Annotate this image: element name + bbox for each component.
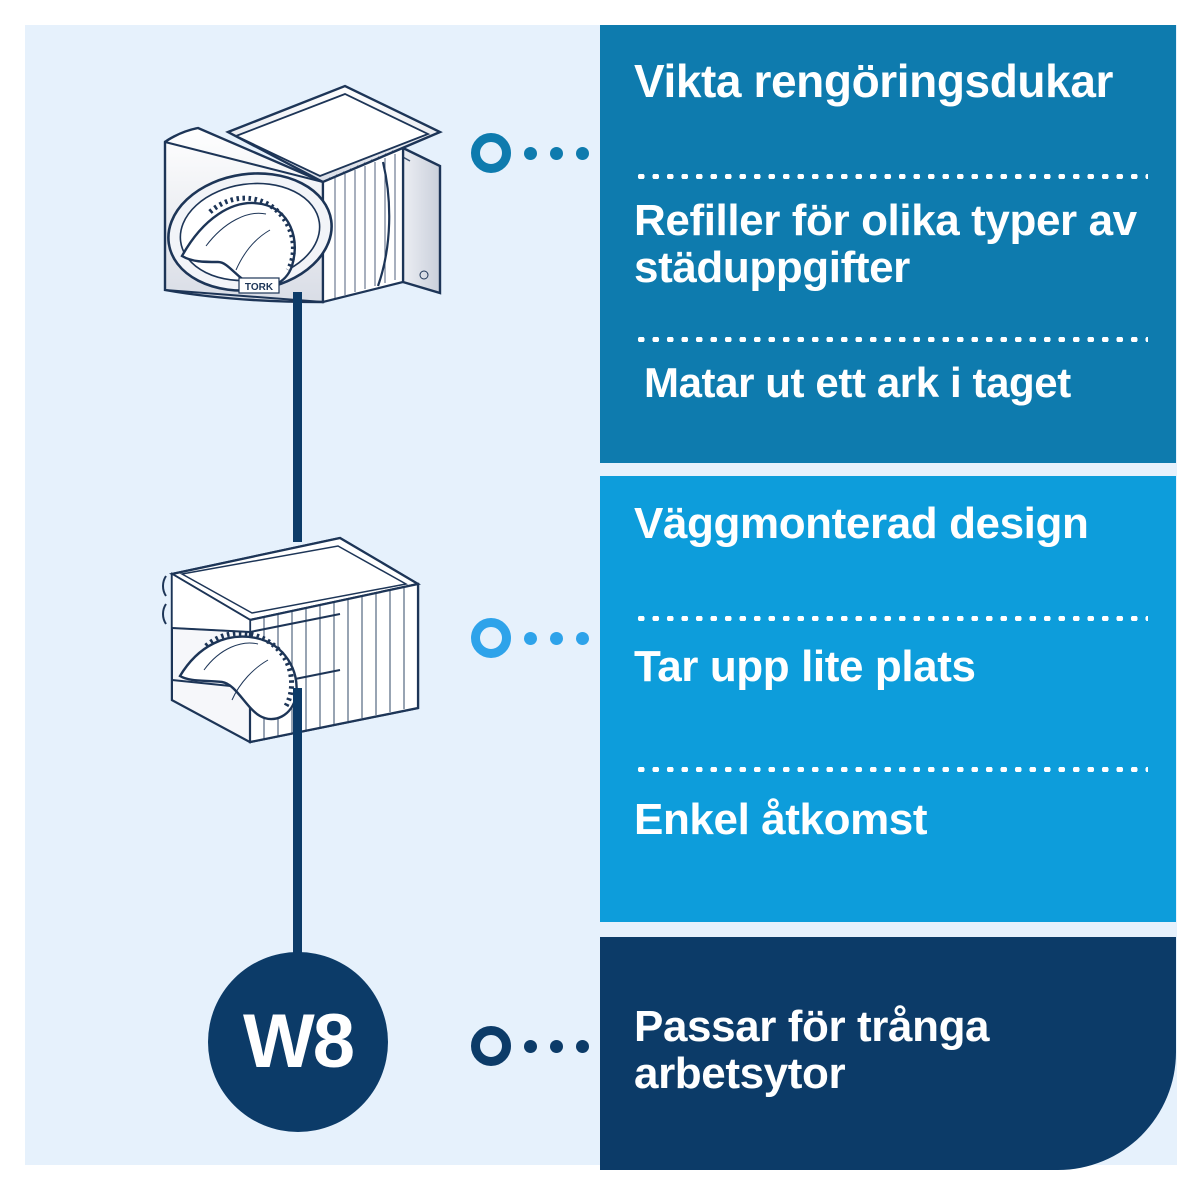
dots-icon bbox=[576, 632, 589, 645]
feature-text: Vikta rengöringsdukar bbox=[634, 57, 1152, 106]
feature-text: Enkel åtkomst bbox=[634, 796, 1152, 843]
feature-text: Passar för trånga arbetsytor bbox=[634, 1003, 1152, 1097]
tork-logo: TORK bbox=[239, 278, 279, 293]
feature-panel-3: Passar för trånga arbetsytor bbox=[600, 937, 1176, 1170]
ring-icon bbox=[471, 1026, 511, 1066]
connector-spine-lower bbox=[293, 688, 302, 988]
connector-spine-upper bbox=[293, 292, 302, 542]
dots-icon bbox=[576, 1040, 589, 1053]
dots-icon bbox=[524, 632, 537, 645]
connector-panel-3 bbox=[471, 1026, 615, 1066]
dots-icon bbox=[550, 147, 563, 160]
connector-panel-2 bbox=[471, 618, 615, 658]
product-code-badge: W8 bbox=[208, 952, 388, 1132]
ring-icon bbox=[471, 618, 511, 658]
dots-icon bbox=[576, 147, 589, 160]
infographic-root: TORK bbox=[0, 0, 1200, 1200]
dots-icon bbox=[550, 632, 563, 645]
dots-icon bbox=[550, 1040, 563, 1053]
feature-text: Refiller för olika typer av städuppgifte… bbox=[634, 197, 1152, 291]
feature-panel-2: Väggmonterad design Tar upp lite plats E… bbox=[600, 476, 1176, 922]
feature-text: Tar upp lite plats bbox=[634, 643, 1152, 690]
feature-panel-1: Vikta rengöringsdukar Refiller för olika… bbox=[600, 25, 1176, 463]
feature-text: Matar ut ett ark i taget bbox=[644, 361, 1152, 406]
feature-separator bbox=[634, 767, 1148, 772]
product-code-label: W8 bbox=[243, 1004, 353, 1080]
connector-panel-1 bbox=[471, 133, 615, 173]
feature-separator bbox=[634, 174, 1148, 179]
dots-icon bbox=[524, 1040, 537, 1053]
feature-separator bbox=[634, 616, 1148, 621]
feature-text: Väggmonterad design bbox=[634, 500, 1152, 547]
ring-icon bbox=[471, 133, 511, 173]
svg-text:TORK: TORK bbox=[245, 282, 274, 293]
feature-separator bbox=[634, 337, 1148, 342]
dots-icon bbox=[524, 147, 537, 160]
dispenser-countertop-illustration: TORK bbox=[140, 70, 470, 330]
dispenser-wall-illustration bbox=[160, 528, 460, 758]
